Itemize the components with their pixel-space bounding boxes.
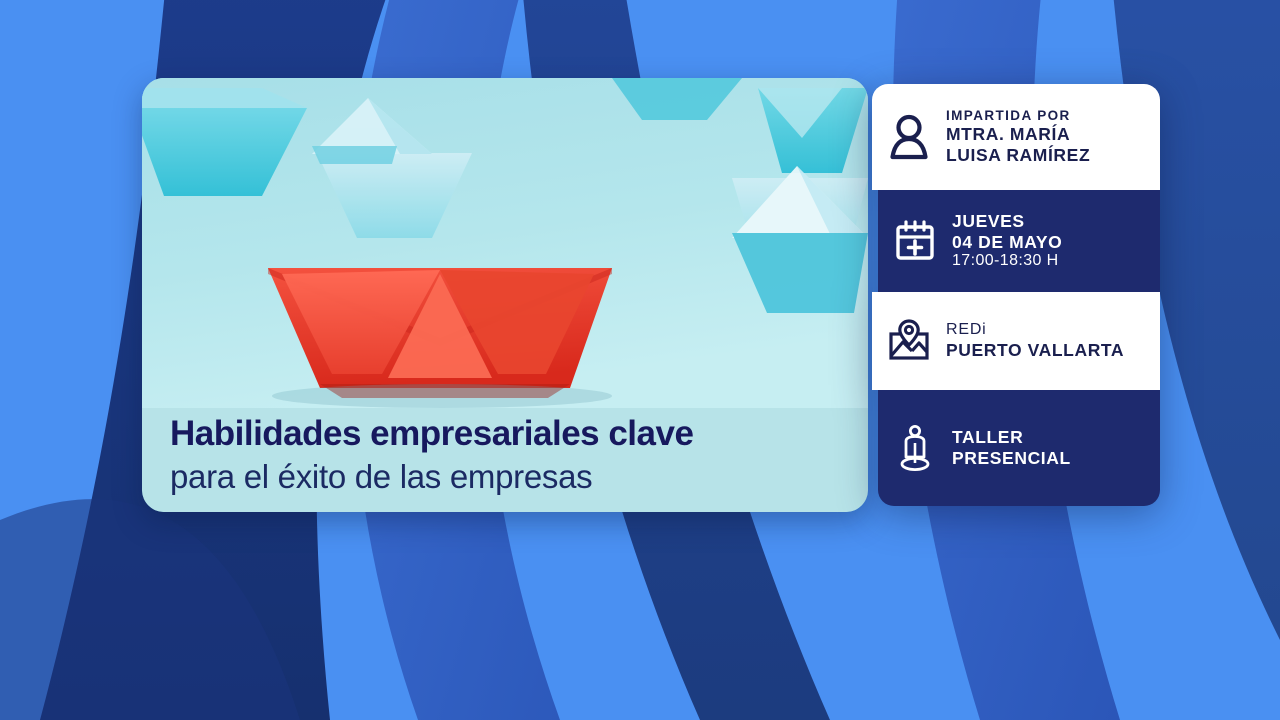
- detail-card-speaker: IMPARTIDA POR MTRA. MARÍA LUISA RAMÍREZ: [872, 84, 1160, 190]
- origami-boats-photo: [142, 78, 868, 408]
- modality-line1: TALLER: [952, 427, 1160, 448]
- page-title: Habilidades empresariales clave: [170, 414, 693, 454]
- speaker-name-line1: MTRA. MARÍA: [946, 124, 1160, 145]
- event-details-stack: IMPARTIDA POR MTRA. MARÍA LUISA RAMÍREZ …: [872, 84, 1160, 506]
- title-band: Habilidades empresariales clave para el …: [142, 408, 868, 512]
- event-poster: Habilidades empresariales clave para el …: [0, 0, 1280, 720]
- page-subtitle: para el éxito de las empresas: [170, 458, 592, 496]
- modality-line2: PRESENCIAL: [952, 448, 1160, 469]
- presenter-podium-icon: [878, 424, 952, 472]
- detail-card-location: REDi PUERTO VALLARTA: [872, 292, 1160, 390]
- detail-card-date: JUEVES 04 DE MAYO 17:00-18:30 H: [878, 190, 1160, 292]
- calendar-plus-icon: [878, 218, 952, 264]
- location-city: PUERTO VALLARTA: [946, 340, 1160, 361]
- map-pin-icon: [872, 318, 946, 364]
- speaker-label: IMPARTIDA POR: [946, 108, 1160, 124]
- date-full: 04 DE MAYO: [952, 232, 1160, 253]
- logo-bar: Red de Centros de Innovación Innovación,…: [0, 530, 1280, 720]
- detail-card-modality: TALLER PRESENCIAL: [878, 390, 1160, 506]
- location-center: REDi: [946, 321, 1160, 340]
- person-icon: [872, 114, 946, 160]
- date-time: 17:00-18:30 H: [952, 252, 1160, 271]
- speaker-name-line2: LUISA RAMÍREZ: [946, 145, 1160, 166]
- date-day: JUEVES: [952, 211, 1160, 232]
- hero-card: Habilidades empresariales clave para el …: [142, 78, 868, 512]
